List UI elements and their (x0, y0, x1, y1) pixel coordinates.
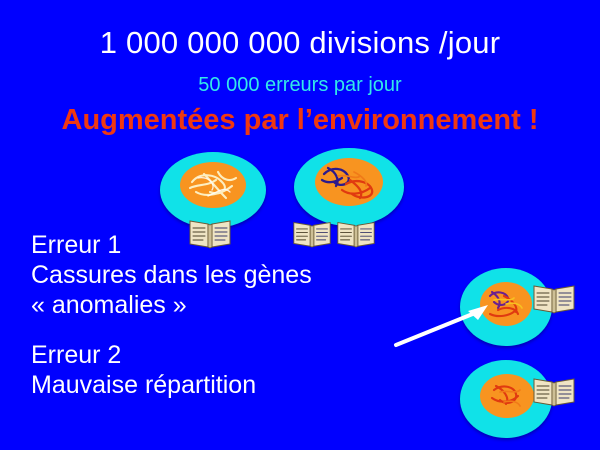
book-icon (532, 281, 576, 315)
chromosomes-icon (294, 148, 404, 226)
error-1-heading: Erreur 1 (31, 230, 312, 260)
slide-emphasis-line: Augmentées par l’environnement ! (0, 104, 600, 137)
error-1-block: Erreur 1 Cassures dans les gènes « anoma… (31, 230, 312, 320)
error-2-block: Erreur 2 Mauvaise répartition (31, 340, 256, 400)
error-2-line2: Mauvaise répartition (31, 370, 256, 400)
book-icon (188, 216, 232, 250)
book-icon (532, 374, 576, 408)
cell-damaged (294, 148, 404, 226)
error-2-heading: Erreur 2 (31, 340, 256, 370)
book-icon (292, 217, 332, 250)
error-1-line2: Cassures dans les gènes (31, 260, 312, 290)
slide-canvas: 1 000 000 000 divisions /jour 50 000 err… (0, 0, 600, 450)
slide-subtitle: 50 000 erreurs par jour (0, 74, 600, 97)
error-1-line3: « anomalies » (31, 290, 312, 320)
pointer-arrow-icon (392, 295, 502, 350)
book-icon (336, 217, 376, 250)
slide-title: 1 000 000 000 divisions /jour (0, 26, 600, 60)
